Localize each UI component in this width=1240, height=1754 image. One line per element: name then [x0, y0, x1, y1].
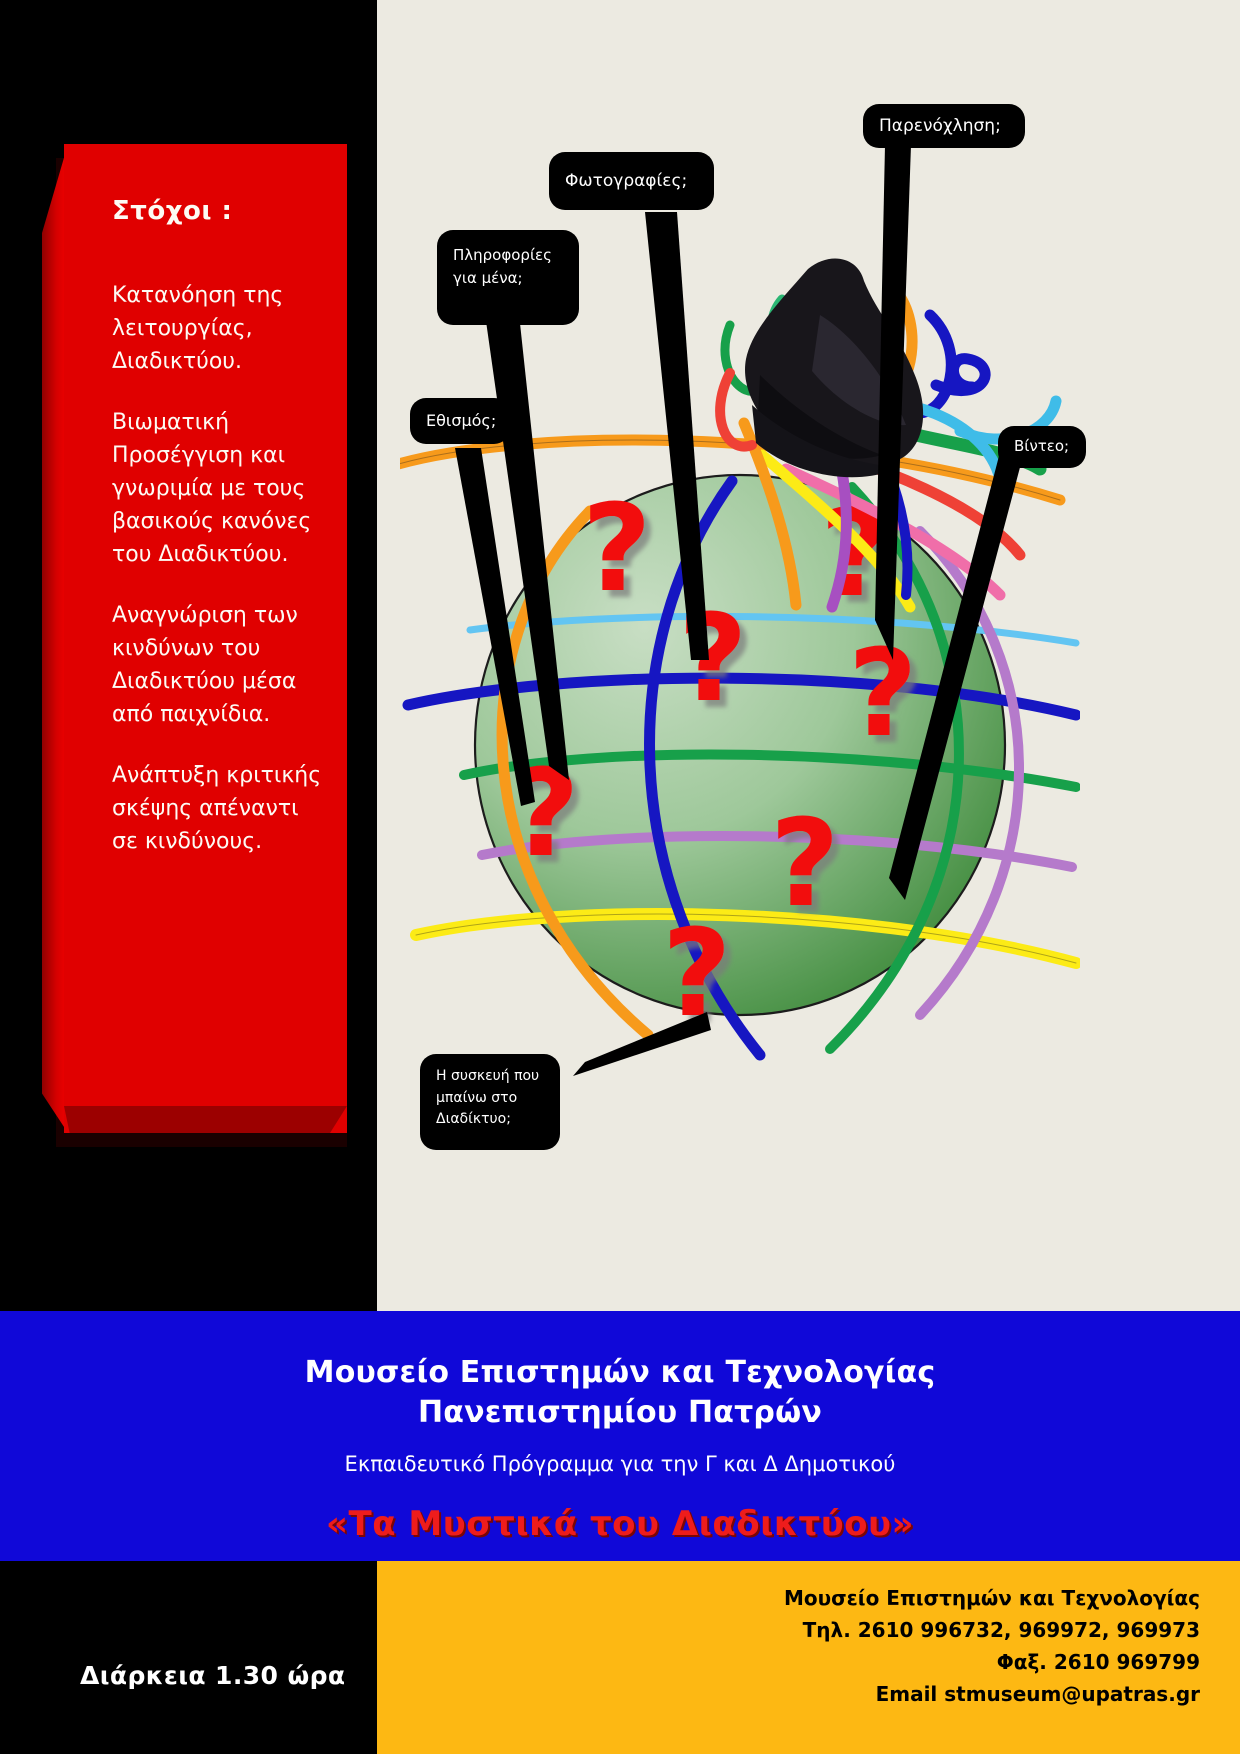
bubble-video[interactable]: Βίντεο;	[998, 426, 1086, 468]
objective-item: Ανάπτυξη κριτικής σκέψης απέναντι σε κιν…	[112, 759, 327, 858]
bubble-device[interactable]: Η συσκευή που μπαίνω στο Διαδίκτυο;	[420, 1054, 560, 1150]
bubble-info-label: Πληροφορίες για μένα;	[453, 244, 563, 291]
contact-email[interactable]: Email stmuseum@upatras.gr	[400, 1678, 1200, 1710]
tail-device	[573, 1012, 711, 1076]
contact-fax: Φαξ. 2610 969799	[400, 1646, 1200, 1678]
bubble-addiction[interactable]: Εθισμός;	[410, 398, 510, 444]
tail-photos	[645, 212, 709, 660]
contact-info: Μουσείο Επιστημών και Τεχνολογίας Τηλ. 2…	[400, 1582, 1200, 1710]
objectives-content: Στόχοι : Κατανόηση της λειτουργίας, Διαδ…	[112, 196, 327, 886]
duration-label: Διάρκεια 1.30 ώρα	[80, 1661, 345, 1690]
program-title: «Τα Μυστικά του Διαδικτύου»	[0, 1504, 1240, 1544]
contact-museum: Μουσείο Επιστημών και Τεχνολογίας	[400, 1582, 1200, 1614]
bubble-addiction-label: Εθισμός;	[426, 409, 496, 434]
bubble-video-label: Βίντεο;	[1014, 435, 1069, 458]
bubble-device-label: Η συσκευή που μπαίνω στο Διαδίκτυο;	[436, 1066, 544, 1131]
objective-item: Βιωματική Προσέγγιση και γνωριμία με του…	[112, 406, 327, 571]
objectives-title: Στόχοι :	[112, 196, 327, 227]
tail-video	[889, 456, 1023, 900]
contact-phone: Τηλ. 2610 996732, 969972, 969973	[400, 1614, 1200, 1646]
poster-root: Στόχοι : Κατανόηση της λειτουργίας, Διαδ…	[0, 0, 1240, 1754]
tail-info	[485, 314, 569, 780]
objectives-box: Στόχοι : Κατανόηση της λειτουργίας, Διαδ…	[42, 144, 347, 1147]
museum-name-line2: Πανεπιστημίου Πατρών	[0, 1393, 1240, 1433]
footer-blue-band: Μουσείο Επιστημών και Τεχνολογίας Πανεπι…	[0, 1311, 1240, 1561]
bubble-harassment[interactable]: Παρενόχληση;	[863, 104, 1025, 148]
objective-item: Αναγνώριση των κινδύνων του Διαδικτύου μ…	[112, 599, 327, 731]
footer-black-block	[0, 1561, 377, 1754]
bubble-harassment-label: Παρενόχληση;	[879, 113, 1001, 139]
objective-item: Κατανόηση της λειτουργίας, Διαδικτύου.	[112, 279, 327, 378]
bubble-photos-label: Φωτογραφίες;	[565, 168, 687, 194]
bubble-photos[interactable]: Φωτογραφίες;	[549, 152, 714, 210]
program-line: Εκπαιδευτικό Πρόγραμμα για την Γ και Δ Δ…	[0, 1452, 1240, 1476]
objectives-box-bottom	[64, 1106, 347, 1133]
bubble-info[interactable]: Πληροφορίες για μένα;	[437, 230, 579, 325]
museum-name-line1: Μουσείο Επιστημών και Τεχνολογίας	[0, 1311, 1240, 1393]
tail-harassment	[875, 145, 911, 660]
